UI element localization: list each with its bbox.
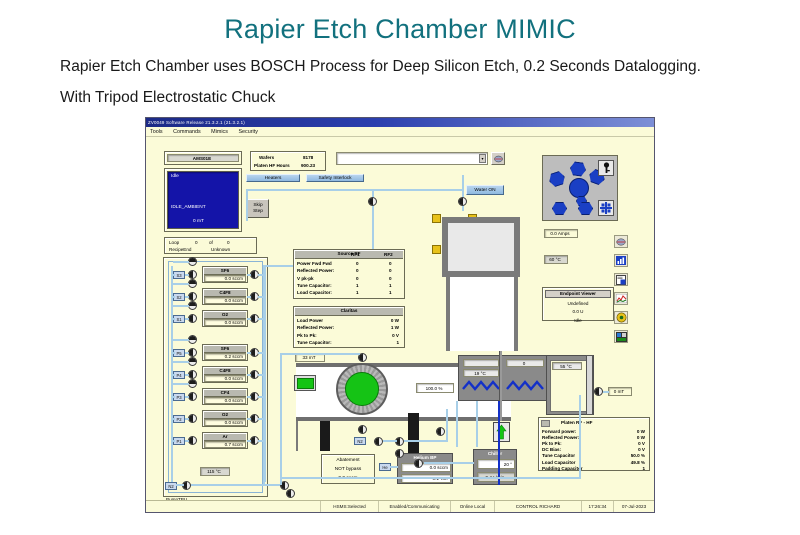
valve-right-line[interactable] [594,387,603,396]
source-rf-panel: Source RF RF1 RF2 Power Fwd Fwd00Reflect… [293,249,405,299]
gas-name-p5: SF6 [204,346,246,353]
valve-top-right[interactable] [458,197,467,206]
duct-mid [408,413,419,453]
source-rf-row-rf2: 0 [389,276,392,281]
skip-step-label-2: Step [253,209,263,214]
state-pressure: 0 mT [193,219,204,224]
chiller-panel: Chiller 20 ° 9.4 L/min [473,449,517,485]
status-comm: Enabled/Communicating [379,501,451,512]
claritas-title: Claritas [341,308,358,313]
valve-he-line[interactable] [436,427,445,436]
menu-item-tools[interactable]: Tools [150,127,163,137]
wafers-label: Wafers [259,155,274,160]
valve-foreline-1[interactable] [374,437,383,446]
status-time: 17:26:34 [582,501,614,512]
endpoint-title: Endpoint Viewer [560,291,596,296]
platen-rf-panel: Platen RF - HF Forward power:0 WReflecte… [538,417,650,471]
platen-hours-label: Platen HF Hours [254,163,290,168]
wall-heater-column [586,355,593,415]
subtitle-line-2: With Tripod Electrostatic Chuck [60,89,800,107]
chamber-id-value: AMS01E [167,154,239,162]
claritas-row-label: Reflected Power: [297,325,334,330]
platen-rf-title: Platen RF - HF [561,420,592,425]
platen-rf-row-label: Tune Capacitor [542,453,575,458]
turbo-pump-rotor [345,372,380,407]
valve-p4-in[interactable] [188,370,197,379]
platen-rf-row-value: 0 V [638,441,645,446]
valve-foreline-4[interactable] [414,459,423,468]
valve-s3-in[interactable] [188,270,197,279]
loop-panel: Loop 0 of 0 RecipeEnd Unknown [164,237,257,254]
gas-flow-p2: 0.0 sccm [204,419,246,426]
source-rf-col1: RF1 [351,252,360,257]
source-rf-row-rf1: 1 [356,283,359,288]
gas-name-p1: Ar [204,434,246,441]
heater-wave-icon-right [506,379,544,393]
source-rf-row-rf2: 0 [389,261,392,266]
platen-rf-row-value: 0 W [637,435,645,440]
valve-s1-bypass[interactable] [188,301,197,310]
state-display[interactable]: Idle IDLE_AMBIENT 0 mT [167,171,239,229]
gas-box-p2: O20.0 sccm [202,410,248,427]
valve-s2-bypass[interactable] [188,279,197,288]
loop-of-label: of [209,240,213,245]
window-titlebar: ZV0049 Software Release 21.3.2.1 (21.3.2… [146,118,654,127]
menu-item-security[interactable]: Security [238,127,257,137]
claritas-row-label: Load Power [297,318,323,323]
endpoint-body: Undefined 0.0 U Idle [545,300,611,325]
cluster-module-1[interactable] [547,170,567,188]
recipe-end-value: Unknown [211,247,230,252]
endpoint-line-3: Idle [545,317,611,325]
mimic-canvas: AMS01E Wafers 8178 Platen HF Hours 900.2… [146,137,654,500]
browse-icon[interactable] [491,152,505,165]
claritas-title-bar: Claritas [295,308,403,316]
gas-name-p3: CF4 [204,390,246,397]
recipe-end-label: RecipeEnd [169,247,191,252]
loop-total: 0 [227,240,230,245]
wafer-counter-box: Wafers 8178 Platen HF Hours 900.23 [250,151,326,171]
status-hsms: HSMS:Selected [321,501,379,512]
chamber-column [446,277,518,351]
cluster-loadlock-1[interactable] [552,202,567,215]
duct-left [320,421,330,451]
state-panel: Idle IDLE_AMBIENT 0 mT [164,168,242,232]
cluster-tool-map[interactable] [542,155,618,221]
source-rf-row-rf1: 0 [356,276,359,281]
platen-rf-row-value: 0 V [638,447,645,452]
valve-s2-in[interactable] [188,292,197,301]
gas-box-s3: SF60.0 sccm [202,266,248,283]
source-rf-row-label: V pk-pk [297,276,314,281]
gas-name-p4: C4F8 [204,368,246,375]
gas-panel-temperature: 115 °C [200,467,230,476]
valve-s3-bypass[interactable] [188,257,197,266]
subtitle-line-1: Rapier Etch Chamber uses BOSCH Process f… [60,58,800,76]
gate-valve-temp-readout: 60 °C [544,255,568,264]
helium-bp-panel: Helium BP 0.0 sccm 0.1 Torr [397,453,453,484]
source-rf-row-label: Reflected Power: [297,268,334,273]
page-title: Rapier Etch Chamber MIMIC [0,14,800,45]
gas-flow-p4: 0.0 sccm [204,375,246,382]
interlock-marker-1 [432,214,441,223]
transfer-duct [446,217,518,277]
lid-right-readout: 0 [506,359,544,367]
safety-interlock-button[interactable]: Safety Interlock [306,174,364,182]
gas-box-p5: SF60.2 sccm [202,344,248,361]
valve-p1-in[interactable] [188,436,197,445]
status-date: 07-Jul-2023 [614,501,654,512]
chart-icon[interactable] [614,254,628,267]
valve-s1-in[interactable] [188,314,197,323]
source-rf-row-rf2: 0 [389,268,392,273]
platen-rf-row-value: 50.0 % [631,453,645,458]
chuck-status-box[interactable] [493,422,510,442]
gas-flow-s2: 0.0 sccm [204,297,246,304]
gas-box-s2: C4F80.0 sccm [202,288,248,305]
loop-value: 0 [195,240,198,245]
tools-icon[interactable] [614,330,628,343]
gas-name-s2: C4F8 [204,290,246,297]
claritas-row-value: 1 W [391,325,399,330]
claritas-row-label: Tune Capacitor: [297,340,332,345]
gas-flow-p5: 0.2 sccm [204,353,246,360]
status-online: Online Local [451,501,495,512]
wall-temp-readout: 55 °C [552,362,582,370]
recipe-select[interactable]: ▾ [336,152,488,165]
amps-readout: 0.0 Amps [544,229,578,238]
platen-rf-row-label: Pk to Pk: [542,441,562,446]
source-rf-row-rf1: 0 [356,268,359,273]
endpoint-line-1: Undefined [545,300,611,308]
endpoint-viewer-panel: Endpoint Viewer Undefined 0.0 U Idle [542,287,614,321]
abatement-panel: Abatement NOT bypass 0.0 sccm [321,454,375,484]
n2-tag-turbo[interactable]: N2 [354,437,366,445]
menu-bar: Tools Commands Mimics Security [146,127,654,137]
source-rf-row-label: Tune Capacitor: [297,283,332,288]
platen-rf-row-label: Forward power: [542,429,576,434]
platen-rf-row-label: DC Bias: [542,447,561,452]
valve-p3-in[interactable] [188,392,197,401]
camera-icon[interactable] [614,235,628,248]
source-rf-row-rf2: 1 [389,290,392,295]
valve-p4-bypass[interactable] [188,357,197,366]
lid-temp-readout: 19 °C [463,369,499,377]
cluster-module-2[interactable] [569,161,587,177]
source-rf-row-rf1: 0 [356,261,359,266]
gas-name-p2: O2 [204,412,246,419]
valve-foreline-3[interactable] [395,449,404,458]
valve-p5-in[interactable] [188,348,197,357]
abatement-status: NOT bypass [322,467,374,472]
left-gauge [294,375,316,391]
source-rf-row-label: Load Capacitor: [297,290,332,295]
valve-pump-line[interactable] [286,489,295,498]
lid-setpoint-readout [463,359,499,367]
status-bar: HSMS:Selected Enabled/Communicating Onli… [146,500,654,512]
valve-turbo-n2[interactable] [358,425,367,434]
source-rf-col2: RF2 [384,252,393,257]
claritas-row-value: 1 [396,340,399,345]
claritas-row-value: 0 V [392,333,399,338]
loop-label: Loop [169,240,179,245]
helium-flow-readout: 0.0 sccm [401,463,451,472]
water-on-button[interactable]: Water ON [466,185,504,195]
platen-rf-row-value: 0 W [637,429,645,434]
up-arrow-icon [494,423,509,441]
chiller-temperature-readout: 20 ° [477,459,515,469]
gas-flow-p3: 0.0 sccm [204,397,246,404]
endpoint-title-bar[interactable]: Endpoint Viewer [545,290,611,298]
key-icon[interactable] [598,160,614,176]
state-name: IDLE_AMBIENT [171,205,206,210]
endpoint-line-2: 0.0 U [545,308,611,316]
skip-step-button[interactable]: Skip Step [247,199,269,218]
throttle-valve-readout: 100.0 % [416,383,454,393]
heaters-button[interactable]: Heaters [246,174,300,182]
gas-flow-s1: 0.0 sccm [204,319,246,326]
valve-p5-bypass[interactable] [188,335,197,344]
gas-box-s1: O20.0 sccm [202,310,248,327]
chiller-title: Chiller [474,451,516,456]
platen-rf-row-label: Padding Capacitor [542,466,583,471]
helium-title: Helium BP [398,455,452,460]
gas-box-p3: CF40.0 sccm [202,388,248,405]
platen-rf-status-badge [541,420,550,427]
gas-box-p1: Ar0.7 sccm [202,432,248,449]
status-operator: CONTROL RICHARD [495,501,582,512]
gas-box-p4: C4F80.0 sccm [202,366,248,383]
source-rf-row-label: Power Fwd Fwd [297,261,332,266]
mimic-application-window: ZV0049 Software Release 21.3.2.1 (21.3.2… [145,117,655,513]
chamber-id-box: AMS01E [164,151,242,165]
heater-wave-icon-left [462,379,500,393]
right-pressure-readout: 0 mT [608,387,632,396]
turbo-pump[interactable] [336,363,388,415]
robot-icon[interactable] [598,200,614,216]
valve-top-left[interactable] [368,197,377,206]
platen-hours-value: 900.23 [301,163,315,168]
platen-rf-row-label: Load Capacitor [542,460,575,465]
menu-item-mimics[interactable]: Mimics [211,127,228,137]
gear-icon[interactable] [614,311,628,324]
claritas-panel: Claritas Load Power0 WReflected Power:1 … [293,306,405,348]
status-cell-spacer [146,501,321,512]
platen-rf-row-value: 49.8 % [631,460,645,465]
platen-rf-row-value: 1 [642,466,645,471]
trend-icon[interactable] [614,292,628,305]
source-rf-row-rf2: 1 [389,283,392,288]
chevron-down-icon[interactable]: ▾ [479,154,486,163]
gas-flow-p1: 0.7 sccm [204,441,246,448]
claritas-row-label: Pk to Pk: [297,333,317,338]
state-mode: Idle [171,174,179,179]
cluster-transfer-chamber[interactable] [569,178,589,198]
menu-item-commands[interactable]: Commands [173,127,201,137]
gas-name-s1: O2 [204,312,246,319]
gas-name-s3: SF6 [204,268,246,275]
gas-flow-s3: 0.0 sccm [204,275,246,282]
valve-p3-bypass[interactable] [188,379,197,388]
report-icon[interactable] [614,273,628,286]
interlock-marker-2 [432,245,441,254]
valve-p2-in[interactable] [188,414,197,423]
abatement-title: Abatement [322,458,374,463]
wafers-value: 8178 [303,155,313,160]
claritas-row-value: 0 W [391,318,399,323]
platen-rf-row-label: Reflected Power: [542,435,579,440]
source-rf-row-rf1: 1 [356,290,359,295]
